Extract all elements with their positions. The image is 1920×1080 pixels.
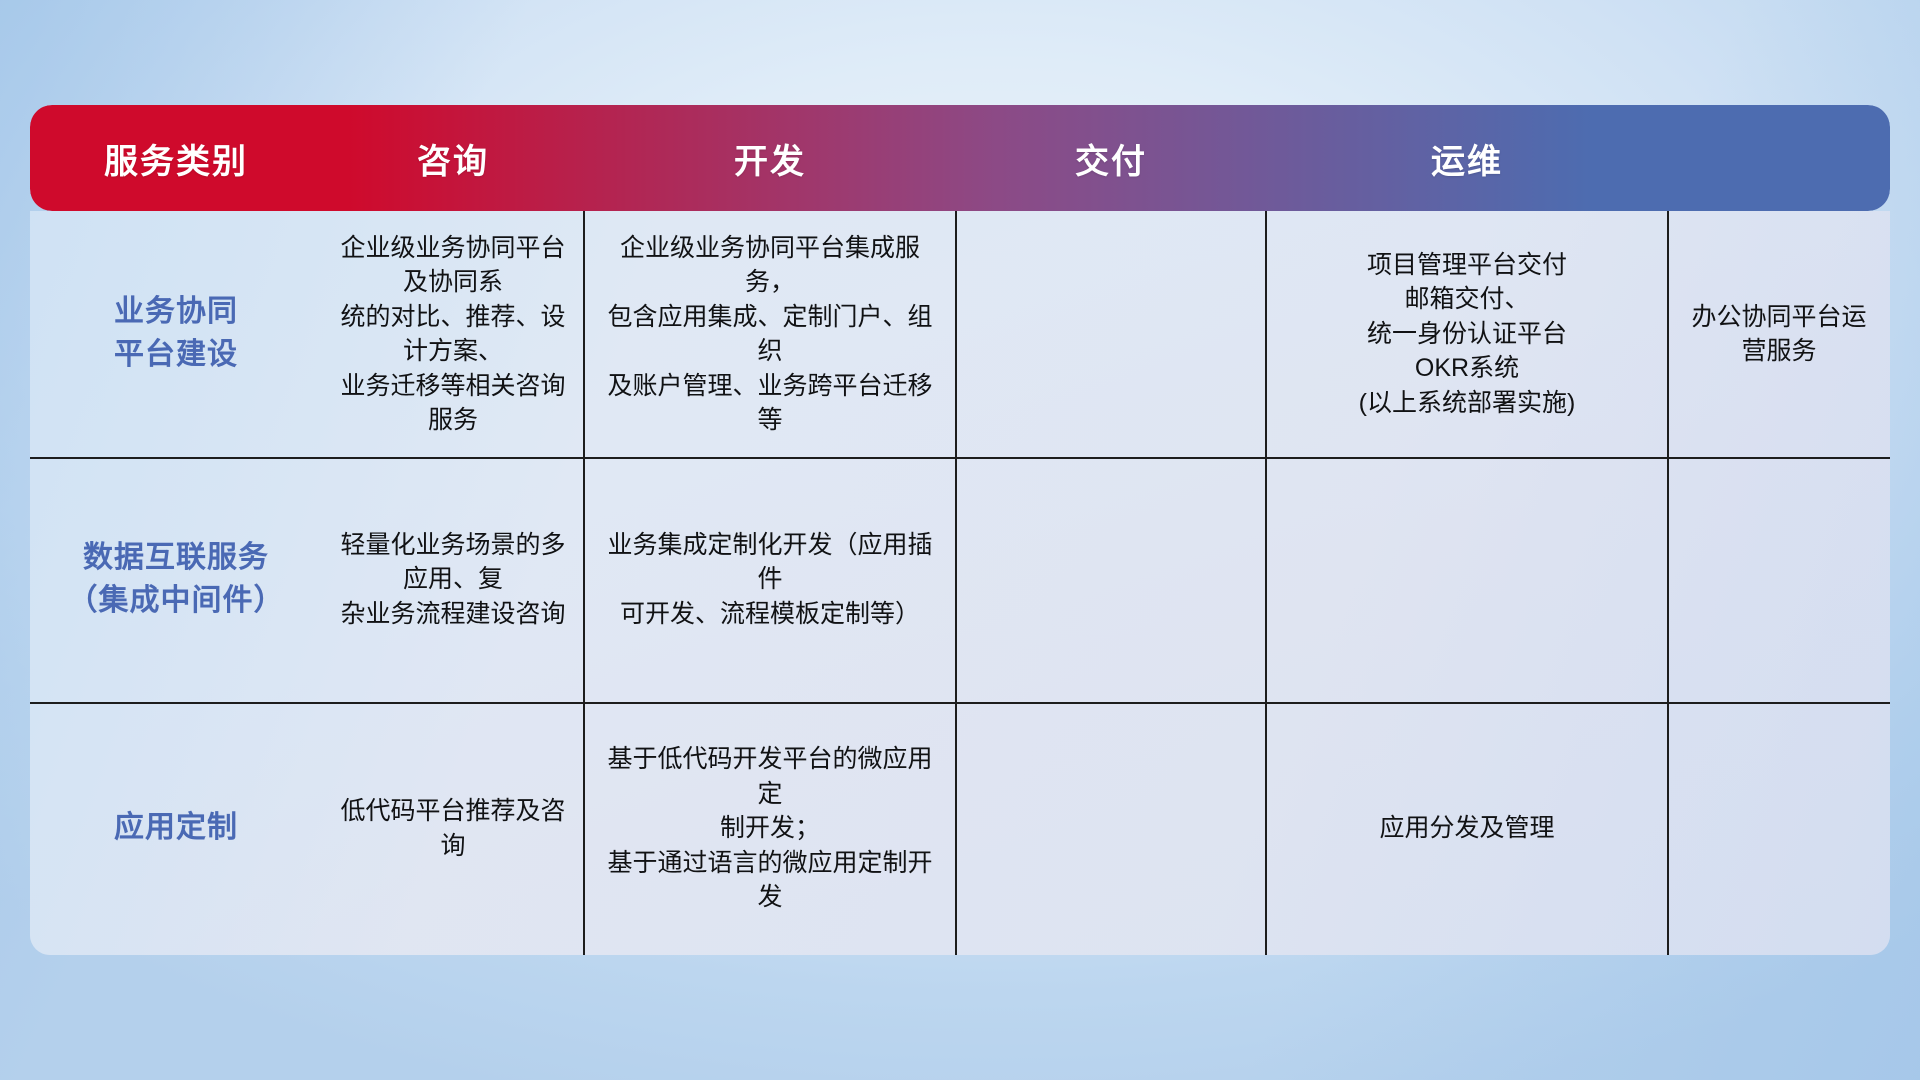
table-header-consulting: 咨询 [322,134,584,183]
cell-consulting-row2: 轻量化业务场景的多应用、复 杂业务流程建设咨询 [322,457,584,702]
row-label-application-customization: 应用定制 [30,702,322,955]
cell-delivery-row3-left-pad [956,702,1266,955]
column-divider-3 [1265,211,1267,955]
cell-development-row1: 企业级业务协同平台集成服务， 包含应用集成、定制门户、组织 及账户管理、业务跨平… [584,211,956,457]
service-matrix-table: 服务类别 咨询 开发 交付 运维 业务协同 平台建设 企业级业务协同平台及协同系… [30,105,1890,955]
table-header-service-category: 服务类别 [30,134,322,183]
column-divider-1 [583,211,585,955]
column-divider-4 [1667,211,1669,955]
table-row: 业务协同 平台建设 企业级业务协同平台及协同系 统的对比、推荐、设计方案、 业务… [30,211,1890,457]
row-divider-2 [30,702,1890,704]
cell-delivery-row3: 应用分发及管理 [1266,702,1668,955]
table-header-row: 服务类别 咨询 开发 交付 运维 [30,105,1890,211]
cell-operations-row3 [1668,702,1890,955]
cell-delivery-row1-left-pad [956,211,1266,457]
table-header-development: 开发 [584,134,956,183]
cell-consulting-row1: 企业级业务协同平台及协同系 统的对比、推荐、设计方案、 业务迁移等相关咨询服务 [322,211,584,457]
table-row: 应用定制 低代码平台推荐及咨询 基于低代码开发平台的微应用定 制开发； 基于通过… [30,702,1890,955]
table-header-operations: 运维 [1266,134,1668,183]
cell-consulting-row3: 低代码平台推荐及咨询 [322,702,584,955]
cell-development-row2: 业务集成定制化开发（应用插件 可开发、流程模板定制等） [584,457,956,702]
row-label-data-interconnection-service: 数据互联服务 （集成中间件） [30,457,322,702]
table-body: 业务协同 平台建设 企业级业务协同平台及协同系 统的对比、推荐、设计方案、 业务… [30,211,1890,955]
cell-development-row3: 基于低代码开发平台的微应用定 制开发； 基于通过语言的微应用定制开发 [584,702,956,955]
table-row: 数据互联服务 （集成中间件） 轻量化业务场景的多应用、复 杂业务流程建设咨询 业… [30,457,1890,702]
cell-operations-row2 [1668,457,1890,702]
row-divider-1 [30,457,1890,459]
cell-delivery-row1: 项目管理平台交付 邮箱交付、 统一身份认证平台 OKR系统 (以上系统部署实施) [1266,211,1668,457]
table-header-delivery: 交付 [956,134,1266,183]
column-divider-2 [955,211,957,955]
cell-delivery-row2-left-pad [956,457,1266,702]
row-label-business-collaboration-platform: 业务协同 平台建设 [30,211,322,457]
cell-delivery-row2 [1266,457,1668,702]
cell-operations-row1: 办公协同平台运营服务 [1668,211,1890,457]
